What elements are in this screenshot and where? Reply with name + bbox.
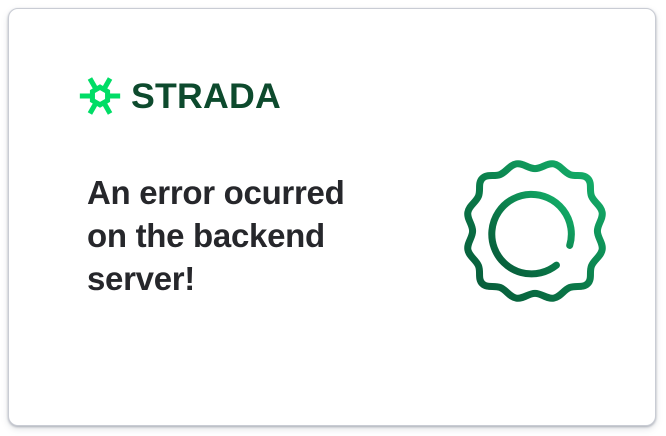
- brand-lockup: STRADA: [79, 75, 278, 117]
- brand-wordmark: STRADA: [131, 79, 281, 114]
- error-page: STRADA An error ocurred on the backend s…: [0, 0, 666, 436]
- error-card: STRADA An error ocurred on the backend s…: [8, 8, 656, 426]
- strada-asterisk-icon: [79, 75, 121, 117]
- gear-cog-icon: [457, 153, 613, 309]
- error-headline: An error ocurred on the backend server!: [87, 172, 387, 301]
